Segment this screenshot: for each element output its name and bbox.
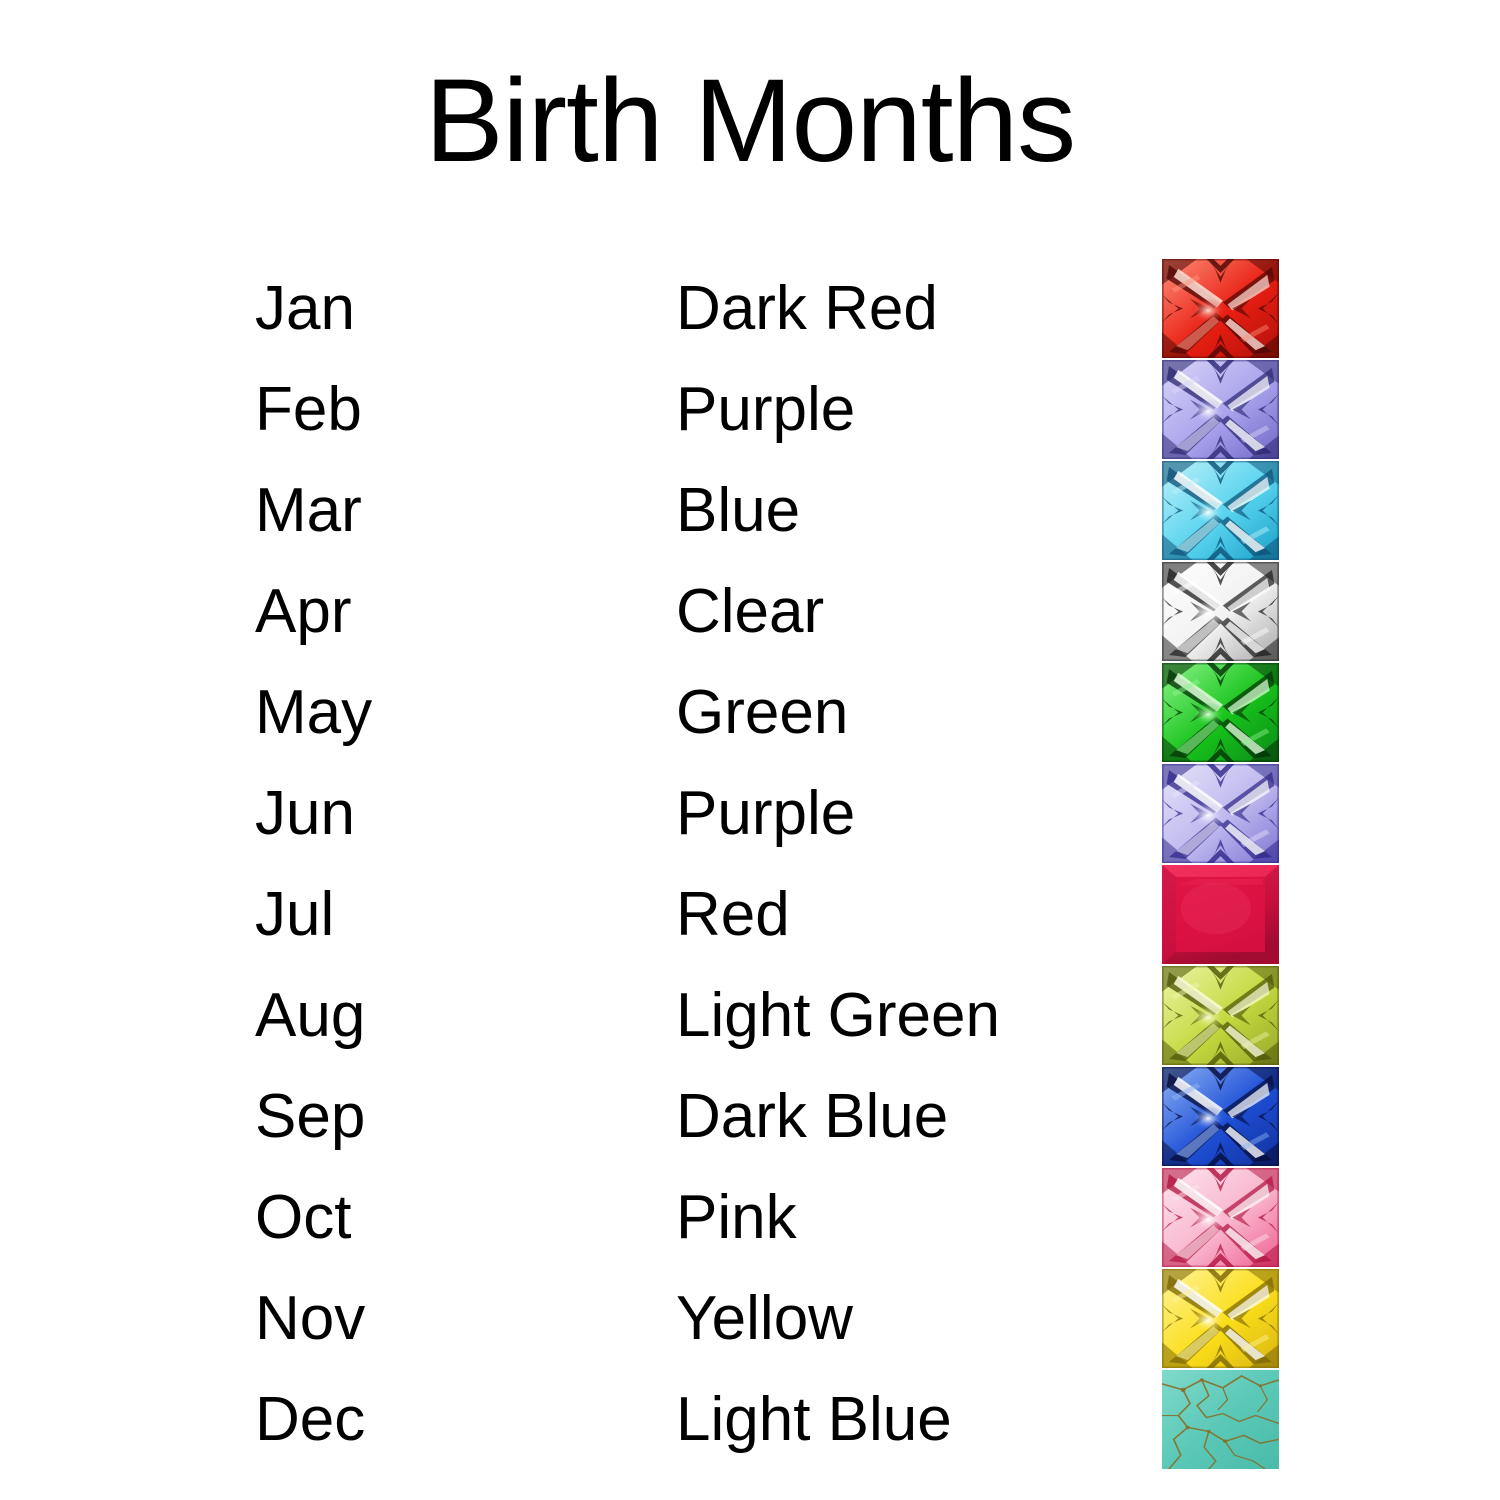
color-label: Dark Blue	[676, 1066, 948, 1167]
table-row: NovYellow	[0, 1268, 1500, 1369]
month-label: Dec	[255, 1369, 365, 1470]
diamond-gem	[1162, 562, 1279, 661]
table-row: AprClear	[0, 561, 1500, 662]
turquoise-stone	[1162, 1370, 1279, 1469]
tourmaline-gem	[1162, 1168, 1279, 1267]
table-row: MarBlue	[0, 460, 1500, 561]
color-label: Dark Red	[676, 258, 938, 359]
table-row: MayGreen	[0, 662, 1500, 763]
month-label: Sep	[255, 1066, 365, 1167]
month-label: Jun	[255, 763, 355, 864]
color-label: Yellow	[676, 1268, 853, 1369]
month-label: Mar	[255, 460, 362, 561]
color-label: Blue	[676, 460, 800, 561]
month-label: Apr	[255, 561, 351, 662]
month-label: Nov	[255, 1268, 365, 1369]
color-label: Purple	[676, 763, 855, 864]
table-row: SepDark Blue	[0, 1066, 1500, 1167]
aquamarine-gem	[1162, 461, 1279, 560]
color-label: Red	[676, 864, 790, 965]
ruby-gem	[1162, 865, 1279, 964]
color-label: Light Green	[676, 965, 1000, 1066]
month-label: Aug	[255, 965, 365, 1066]
birth-months-page: Birth Months JanDark Red FebPurple	[0, 0, 1500, 1500]
month-label: Jan	[255, 258, 355, 359]
emerald-gem	[1162, 663, 1279, 762]
table-row: AugLight Green	[0, 965, 1500, 1066]
citrine-gem	[1162, 1269, 1279, 1368]
month-label: May	[255, 662, 372, 763]
table-row: FebPurple	[0, 359, 1500, 460]
birth-months-table: JanDark Red FebPurple	[0, 258, 1500, 1470]
month-label: Jul	[255, 864, 334, 965]
table-row: JanDark Red	[0, 258, 1500, 359]
color-label: Light Blue	[676, 1369, 952, 1470]
table-row: JunPurple	[0, 763, 1500, 864]
alexandrite-gem	[1162, 764, 1279, 863]
peridot-gem	[1162, 966, 1279, 1065]
garnet-gem	[1162, 259, 1279, 358]
month-label: Feb	[255, 359, 362, 460]
page-title: Birth Months	[0, 62, 1500, 180]
table-row: DecLight Blue	[0, 1369, 1500, 1470]
sapphire-gem	[1162, 1067, 1279, 1166]
color-label: Pink	[676, 1167, 797, 1268]
table-row: OctPink	[0, 1167, 1500, 1268]
color-label: Green	[676, 662, 848, 763]
table-row: JulRed	[0, 864, 1500, 965]
color-label: Purple	[676, 359, 855, 460]
color-label: Clear	[676, 561, 824, 662]
month-label: Oct	[255, 1167, 351, 1268]
amethyst-gem	[1162, 360, 1279, 459]
